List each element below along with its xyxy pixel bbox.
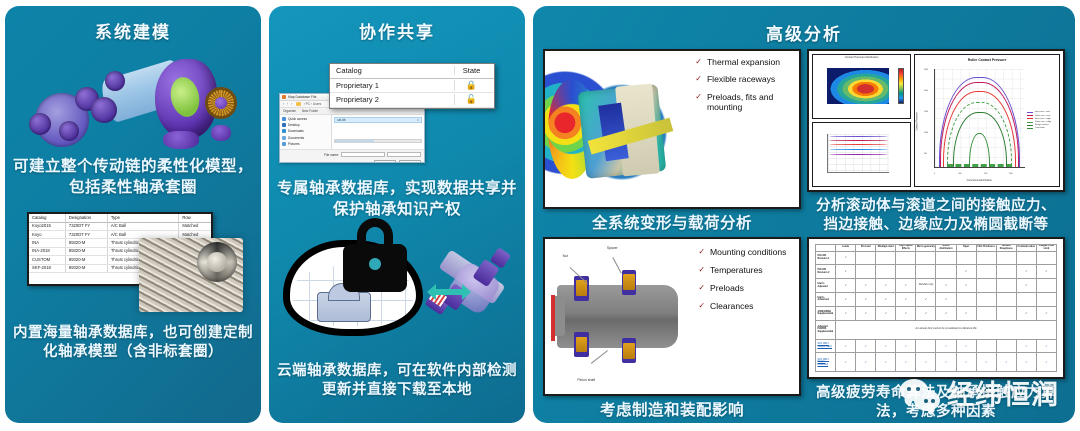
heatmap-surface: [827, 68, 889, 105]
caption-cloud-database: 云端轴承数据库，可在软件内部检测更新并直接下载至本地: [269, 362, 525, 400]
panel-advanced-analysis: 高级分析 ✓Thermal expansion: [533, 6, 1075, 423]
col-fatigue-load-limit: Fatigue Load Limit: [1036, 244, 1056, 251]
cancel-button[interactable]: Cancel: [399, 160, 421, 164]
chart-axes: [827, 134, 889, 173]
table-row: Adjusted ISO/DIS Supplemental An almost …: [816, 320, 1057, 339]
check-icon: ✓: [698, 301, 705, 311]
figure-system-deflection: ✓Thermal expansion ✓Flexible raceways ✓P…: [543, 49, 801, 209]
cloud-database-art: [269, 222, 525, 362]
legend-entry: Truncation: [1027, 127, 1056, 129]
panel-title-collaboration: 协作共享: [269, 6, 525, 43]
series-line: [829, 136, 888, 137]
col-state: State: [454, 66, 488, 75]
table-header-row: Catalog Designation Type Row: [29, 214, 211, 222]
catalog-name: Proprietary 2: [336, 95, 454, 104]
folder-icon: [296, 102, 301, 106]
figure-capability-matrix: Loads Pre-load Misalign-ment High Speed …: [807, 237, 1065, 380]
sidebar-item-quick-access[interactable]: Quick access: [282, 117, 329, 121]
wechat-icon: [900, 379, 940, 411]
series-line: [829, 144, 888, 145]
file-type-select[interactable]: [387, 152, 421, 157]
nut-highlight: [551, 295, 555, 342]
legend-entry: Inner race - edge: [1027, 118, 1056, 120]
dialog-footer: File name: Open Cancel: [280, 149, 424, 163]
check-icon: ✓: [698, 283, 705, 293]
col-misalignment: Misalign-ment: [876, 244, 896, 251]
dialog-app-icon: [282, 95, 286, 99]
padlock-icon: [343, 218, 407, 292]
chart-legend: Inner race - max Outer race - max Inner …: [1027, 76, 1056, 165]
bidirectional-arrow-icon: [427, 284, 471, 300]
table-row: SKF GBLT Fatigue Basic ✓✓✓✓✓✓✓✓: [816, 339, 1057, 353]
driveline-flexible-model-art: [5, 45, 261, 157]
bearing-upper-left: [574, 276, 589, 301]
chart-pressure-profiles: [812, 122, 911, 187]
list-item: ✓Temperatures: [698, 265, 795, 275]
chart-roller-contact-pressure: Roller Contact Pressure Contact Pressure…: [914, 54, 1060, 187]
bearing-lower-right: [622, 338, 637, 363]
table-header-row: Loads Pre-load Misalign-ment High Speed …: [816, 244, 1057, 251]
bearing-upper-right: [622, 270, 637, 295]
breadcrumb[interactable]: › PC › Users: [304, 102, 322, 106]
document-icon: [282, 136, 286, 140]
table-row[interactable]: Proprietary 2 🔓: [330, 93, 494, 108]
bearing-ring-icon: [197, 242, 237, 282]
panel-title-system-modeling: 系统建模: [5, 6, 261, 43]
col-high-speed: High Speed Effects: [896, 244, 916, 251]
legend-entry: Inner race - max: [1027, 111, 1056, 113]
proprietary-catalog-window[interactable]: Catalog State Proprietary 1 🔒 Proprietar…: [329, 63, 495, 109]
housing-3d-model: [153, 55, 237, 147]
figure-pinion-shaft: Nut Spacer Pinion shaft ✓Mounting condit…: [543, 237, 801, 397]
sidebar-item-desktop[interactable]: Desktop: [282, 123, 329, 127]
file-type-icon: □: [417, 118, 419, 122]
list-item: ✓Flexible raceways: [695, 74, 795, 84]
panel-collaboration-sharing: 协作共享 Map Database File ‹ › ↑ › PC › User…: [269, 6, 525, 423]
chart-xlabel: Circumferential Position: [934, 179, 1025, 182]
filename-label: File name:: [324, 153, 339, 157]
forward-arrow-icon[interactable]: ›: [287, 102, 288, 106]
figure-contact-stress-charts: Contact Pressure Distribution: [807, 49, 1065, 192]
label-nut: Nut: [563, 254, 568, 258]
download-icon: [282, 129, 286, 133]
panel-system-modeling: 系统建模 可建立整个传动链的柔性化模型，包括柔性轴承套圈: [5, 6, 261, 423]
hub-node-1-icon: [29, 113, 51, 135]
sidebar-item-pictures[interactable]: Pictures: [282, 142, 329, 146]
col-stress-distribution: Stress distribution: [936, 244, 956, 251]
pinion-shaft-diagram: Nut Spacer Pinion shaft: [545, 239, 692, 395]
list-item: ✓Mounting conditions: [698, 247, 795, 257]
padlock-keyhole: [369, 258, 381, 270]
chart-plot-area: [934, 69, 1025, 167]
housing-tab-icon: [211, 125, 231, 141]
col-row: Row: [179, 214, 211, 222]
bearing-database-art: Catalog Designation Type Row Koyo2015732…: [5, 204, 261, 324]
filename-input[interactable]: [341, 152, 385, 157]
dialog-title-text: Map Database File: [288, 95, 316, 99]
catalog-name: Proprietary 1: [336, 81, 454, 90]
label-spacer: Spacer: [607, 246, 618, 250]
list-item[interactable]: cat.db □: [334, 117, 422, 123]
series-line: [829, 140, 888, 141]
check-icon: ✓: [698, 247, 705, 257]
cell-system-deflection: ✓Thermal expansion ✓Flexible raceways ✓P…: [543, 49, 801, 235]
padlock-body: [343, 244, 407, 292]
chart-title: Roller Contact Pressure: [915, 58, 1059, 62]
cae-contour-image: [545, 51, 687, 207]
caption-manufacturing-assembly: 考虑制造和装配影响: [594, 401, 750, 422]
back-arrow-icon[interactable]: ‹: [283, 102, 284, 106]
caption-contact-stress: 分析滚动体与滚道之间的接触应力、挡边接触、边缘应力及椭圆截断等: [807, 197, 1065, 235]
cell-manufacturing-assembly: Nut Spacer Pinion shaft ✓Mounting condit…: [543, 237, 801, 423]
horizontal-scrollbar[interactable]: [334, 139, 422, 143]
watermark-text: 经纬恒润: [947, 382, 1059, 409]
panel-title-advanced-analysis: 高级分析: [533, 6, 1075, 45]
organize-button[interactable]: Organize: [283, 109, 296, 113]
chart-title: Contact Pressure Distribution: [813, 56, 910, 59]
table-row: ISO 281 Revision 2 ✓✓✓✓: [816, 265, 1057, 279]
list-item: ✓Preloads, fits and mounting: [695, 92, 795, 113]
col-method: [816, 244, 836, 251]
col-catalog: Catalog: [336, 66, 454, 75]
check-icon: ✓: [695, 74, 702, 84]
desktop-icon: [282, 123, 286, 127]
table-row: SKF GBLT Fatigue Advanced ✓✓✓✓✓✓✓✓✓✓✓: [816, 353, 1057, 372]
col-loads: Loads: [836, 244, 856, 251]
database-sharing-art: Map Database File ‹ › ↑ › PC › Users Org…: [269, 47, 525, 179]
col-film-thickness: Film Thickness: [976, 244, 996, 251]
caption-proprietary-database: 专属轴承数据库，实现数据共享并保护轴承知识产权: [269, 179, 525, 220]
housing-foot-icon: [163, 131, 199, 149]
list-item: ✓Preloads: [698, 283, 795, 293]
catalog-header-row: Catalog State: [330, 64, 494, 79]
table-row: ISO 281 Revision 1 ✓: [816, 251, 1057, 265]
col-taper: Taper: [956, 244, 976, 251]
unlock-icon[interactable]: 🔓: [454, 94, 488, 105]
up-arrow-icon[interactable]: ↑: [291, 102, 293, 106]
slide-root: 系统建模 可建立整个传动链的柔性化模型，包括柔性轴承套圈: [0, 0, 1080, 431]
col-designation: Designation: [65, 214, 107, 222]
legend-entry: Outer race - max: [1027, 115, 1056, 117]
dialog-toolbar[interactable]: Organize New Folder: [280, 108, 424, 115]
hub-node-2-icon: [59, 121, 79, 141]
chart-pressure-heatmap: Contact Pressure Distribution: [812, 54, 911, 119]
dialog-sidebar[interactable]: Quick access Desktop Downloads Documents…: [280, 115, 332, 149]
col-surface-roughness: Surface Roughness: [996, 244, 1016, 251]
col-type: Type: [107, 214, 178, 222]
table-row: ANSI/ABMA Supplemental ✓✓✓✓✓✓✓✓✓: [816, 306, 1057, 320]
cell-contact-stress: Contact Pressure Distribution: [807, 49, 1065, 235]
chart-ylabel: Contact Pressure: [916, 113, 919, 131]
blueprint-bearing-drawing: [317, 292, 371, 322]
sidebar-item-documents[interactable]: Documents: [282, 136, 329, 140]
table-row: Harris Advanced ✓✓✓✓✓✓: [816, 293, 1057, 307]
series-line: [829, 149, 888, 150]
caption-system-deflection: 全系统变形与载荷分析: [586, 214, 758, 235]
table-row: Koyo20157320DT FYA/C BallMatched: [29, 222, 211, 230]
list-item: ✓Clearances: [698, 301, 795, 311]
col-microgeometry: Micro-geometry: [916, 244, 936, 251]
legend-entry: Flange contact: [1027, 124, 1056, 126]
sidebar-item-downloads[interactable]: Downloads: [282, 129, 329, 133]
manufacturing-checklist: ✓Mounting conditions ✓Temperatures ✓Prel…: [692, 239, 799, 395]
dialog-body: Quick access Desktop Downloads Documents…: [280, 115, 424, 149]
table-row[interactable]: Proprietary 1 🔒: [330, 79, 494, 94]
col-contamination: Contamin-ation: [1016, 244, 1036, 251]
hub-node-5-icon: [105, 71, 125, 91]
legend-entry: Outer race - edge: [1027, 121, 1056, 123]
ring-gear-icon: [205, 87, 237, 119]
star-icon: [282, 117, 286, 121]
watermark: 经纬恒润: [900, 379, 1059, 411]
chart-series-lines: [828, 134, 889, 172]
series-line: [829, 154, 888, 155]
hub-node-4-icon: [91, 97, 117, 123]
check-icon: ✓: [695, 57, 702, 67]
capability-matrix-table: Loads Pre-load Misalign-ment High Speed …: [809, 239, 1063, 378]
heatmap-colorbar: [898, 68, 905, 105]
list-item: ✓Thermal expansion: [695, 57, 795, 67]
picture-icon: [282, 142, 286, 146]
label-pinion-shaft: Pinion shaft: [577, 378, 595, 382]
table-row: Harris Adjusted ✓✓✓✓Flexible only✓✓✓: [816, 279, 1057, 293]
dialog-file-list[interactable]: cat.db □: [332, 115, 424, 149]
bearing-lower-left: [574, 332, 589, 357]
check-icon: ✓: [695, 92, 702, 102]
advanced-analysis-grid: ✓Thermal expansion ✓Flexible raceways ✓P…: [533, 45, 1075, 423]
bearings-photo: [139, 238, 243, 312]
open-button[interactable]: Open: [374, 160, 396, 164]
system-deflection-checklist: ✓Thermal expansion ✓Flexible raceways ✓P…: [687, 51, 799, 207]
caption-flexible-driveline: 可建立整个传动链的柔性化模型，包括柔性轴承套圈: [5, 157, 261, 198]
col-preload: Pre-load: [856, 244, 876, 251]
check-icon: ✓: [698, 265, 705, 275]
caption-bearing-database: 内置海量轴承数据库，也可创建定制化轴承模型（含非标套圈）: [5, 324, 261, 362]
new-folder-button[interactable]: New Folder: [302, 109, 318, 113]
lock-icon[interactable]: 🔒: [454, 80, 488, 91]
col-catalog: Catalog: [29, 214, 65, 222]
